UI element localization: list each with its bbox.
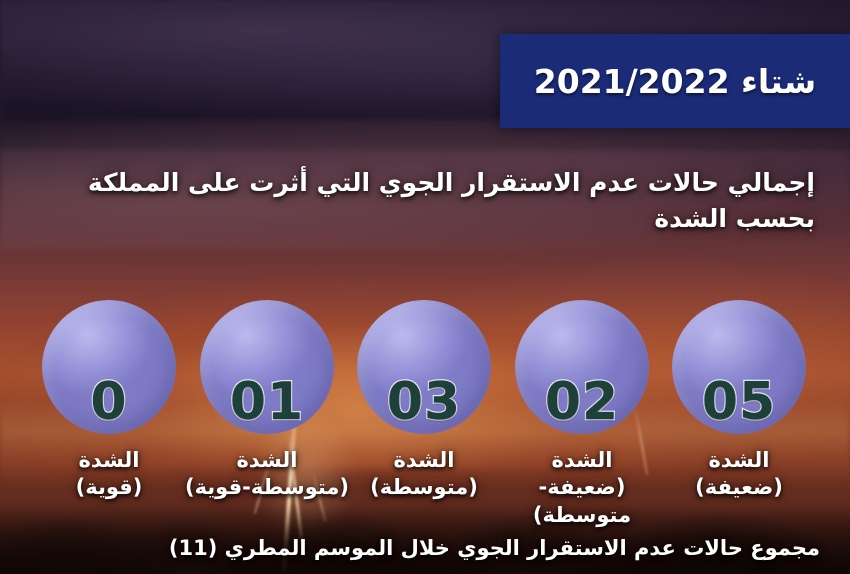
severity-label-qualifier: (قوية) <box>21 474 197 501</box>
severity-count: 03 <box>357 376 491 428</box>
severity-bubble: 02 <box>515 300 649 434</box>
severity-label-prefix: الشدة <box>709 448 770 472</box>
severity-label-qualifier: (متوسطة) <box>336 474 512 501</box>
severity-label-prefix: الشدة <box>79 448 140 472</box>
severity-count: 01 <box>200 376 334 428</box>
severity-bubbles-row: 0 01 03 02 05 <box>0 300 850 445</box>
severity-count: 05 <box>672 376 806 428</box>
severity-labels-row: الشدة (قوية) الشدة (متوسطة-قوية) الشدة (… <box>0 447 850 509</box>
severity-bubble: 0 <box>42 300 176 434</box>
severity-label-qualifier: (ضعيفة-متوسطة) <box>494 474 670 529</box>
severity-count: 02 <box>515 376 649 428</box>
season-label: شتاء 2021/2022 <box>534 62 816 101</box>
severity-bubble: 05 <box>672 300 806 434</box>
season-banner: شتاء 2021/2022 <box>500 34 850 128</box>
severity-count: 0 <box>42 376 176 428</box>
season-total-text: مجموع حالات عدم الاستقرار الجوي خلال الم… <box>169 536 820 560</box>
severity-label-qualifier: (ضعيفة) <box>651 474 827 501</box>
severity-bubble: 01 <box>200 300 334 434</box>
page-title-line-1: إجمالي حالات عدم الاستقرار الجوي التي أث… <box>88 168 815 197</box>
severity-label: الشدة (قوية) <box>21 447 197 502</box>
severity-label-prefix: الشدة <box>394 448 455 472</box>
severity-label-qualifier: (متوسطة-قوية) <box>179 474 355 501</box>
severity-label: الشدة (ضعيفة) <box>651 447 827 502</box>
severity-bubble: 03 <box>357 300 491 434</box>
infographic-poster: شتاء 2021/2022 إجمالي حالات عدم الاستقرا… <box>0 0 850 574</box>
page-title-line-2: بحسب الشدة <box>25 201 815 237</box>
severity-label-prefix: الشدة <box>552 448 613 472</box>
severity-label-prefix: الشدة <box>237 448 298 472</box>
severity-label: الشدة (متوسطة) <box>336 447 512 502</box>
page-title: إجمالي حالات عدم الاستقرار الجوي التي أث… <box>25 165 815 238</box>
severity-label: الشدة (ضعيفة-متوسطة) <box>494 447 670 529</box>
severity-label: الشدة (متوسطة-قوية) <box>179 447 355 502</box>
